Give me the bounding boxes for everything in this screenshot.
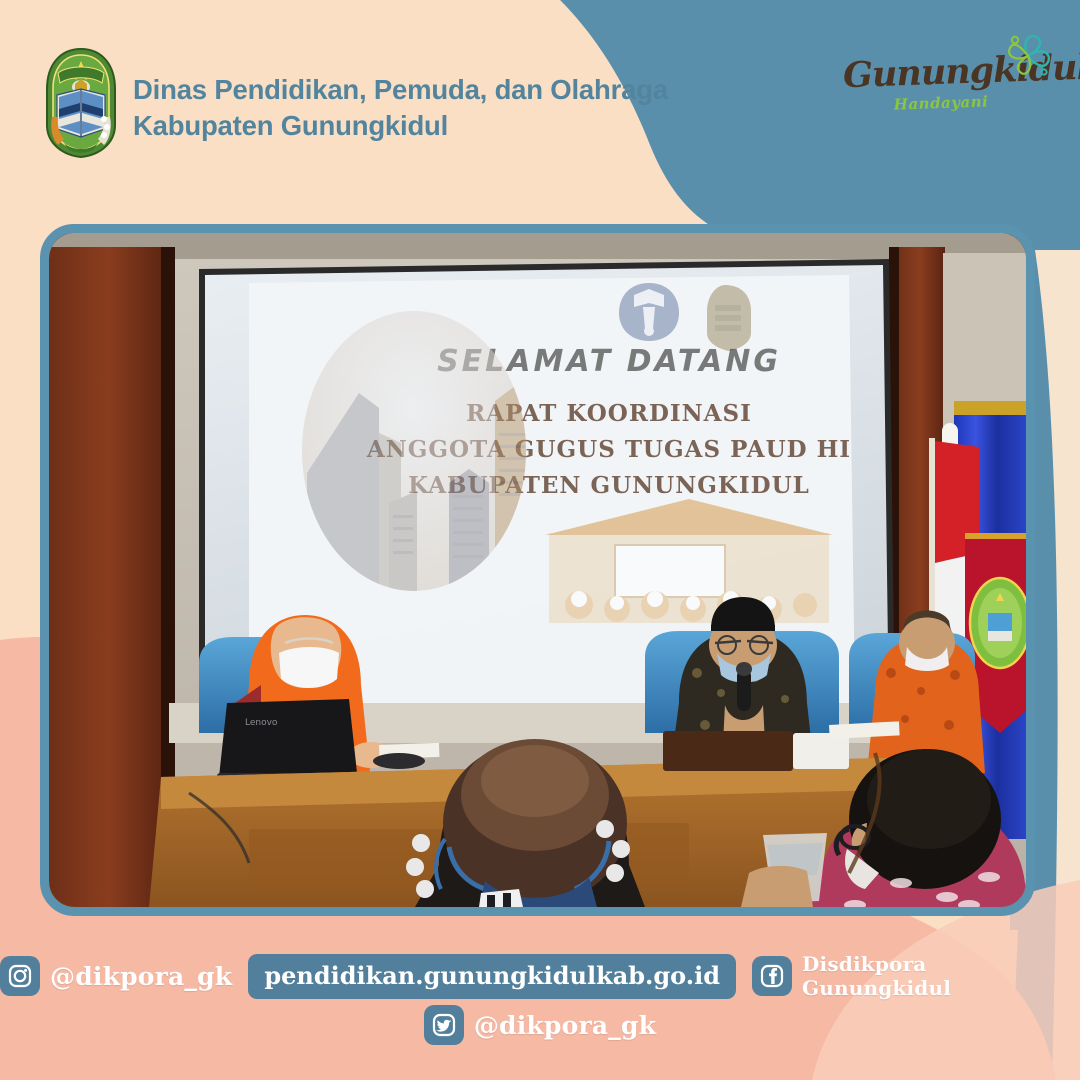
header: Dinas Pendidikan, Pemuda, dan Olahraga K… [0,0,1080,200]
website-url-pill[interactable]: pendidikan.gunungkidulkab.go.id [248,954,736,999]
meeting-photograph: SELAMAT DATANG RAPAT KOORDINASI ANGGOTA … [49,233,1026,907]
footer-item-facebook[interactable]: Disdikpora Gunungkidul [752,952,1080,1000]
twitter-icon[interactable] [424,1005,464,1045]
gunungkidul-brand-logo: Gunungkidul Handayani [843,30,1058,130]
page-title: Dinas Pendidikan, Pemuda, dan Olahraga K… [133,72,753,144]
poster-canvas: Dinas Pendidikan, Pemuda, dan Olahraga K… [0,0,1080,1080]
org-title-line1: Dinas Pendidikan, Pemuda, dan Olahraga [133,74,668,105]
instagram-handle: @dikpora_gk [50,962,232,991]
footer-item-twitter[interactable]: @dikpora_gk [424,1005,656,1045]
instagram-icon[interactable] [0,956,40,996]
twitter-handle: @dikpora_gk [474,1011,656,1040]
footer-item-instagram[interactable]: @dikpora_gk [0,956,232,996]
org-title-line2: Kabupaten Gunungkidul [133,108,753,144]
lenovo-laptop: Lenovo [217,699,365,785]
facebook-page-name: Disdikpora Gunungkidul [802,952,1080,1000]
footer-row-primary: @dikpora_gk pendidikan.gunungkidulkab.go… [0,952,1080,1000]
svg-text:Lenovo: Lenovo [245,718,278,728]
brand-tagline: Handayani [871,92,1012,115]
gunungkidul-regency-crest-icon [44,47,118,159]
meeting-photograph-frame: SELAMAT DATANG RAPAT KOORDINASI ANGGOTA … [40,224,1035,916]
butterfly-ornament-icon [998,26,1056,84]
facebook-icon[interactable] [752,956,792,996]
footer-row-secondary: @dikpora_gk [0,1005,1080,1045]
